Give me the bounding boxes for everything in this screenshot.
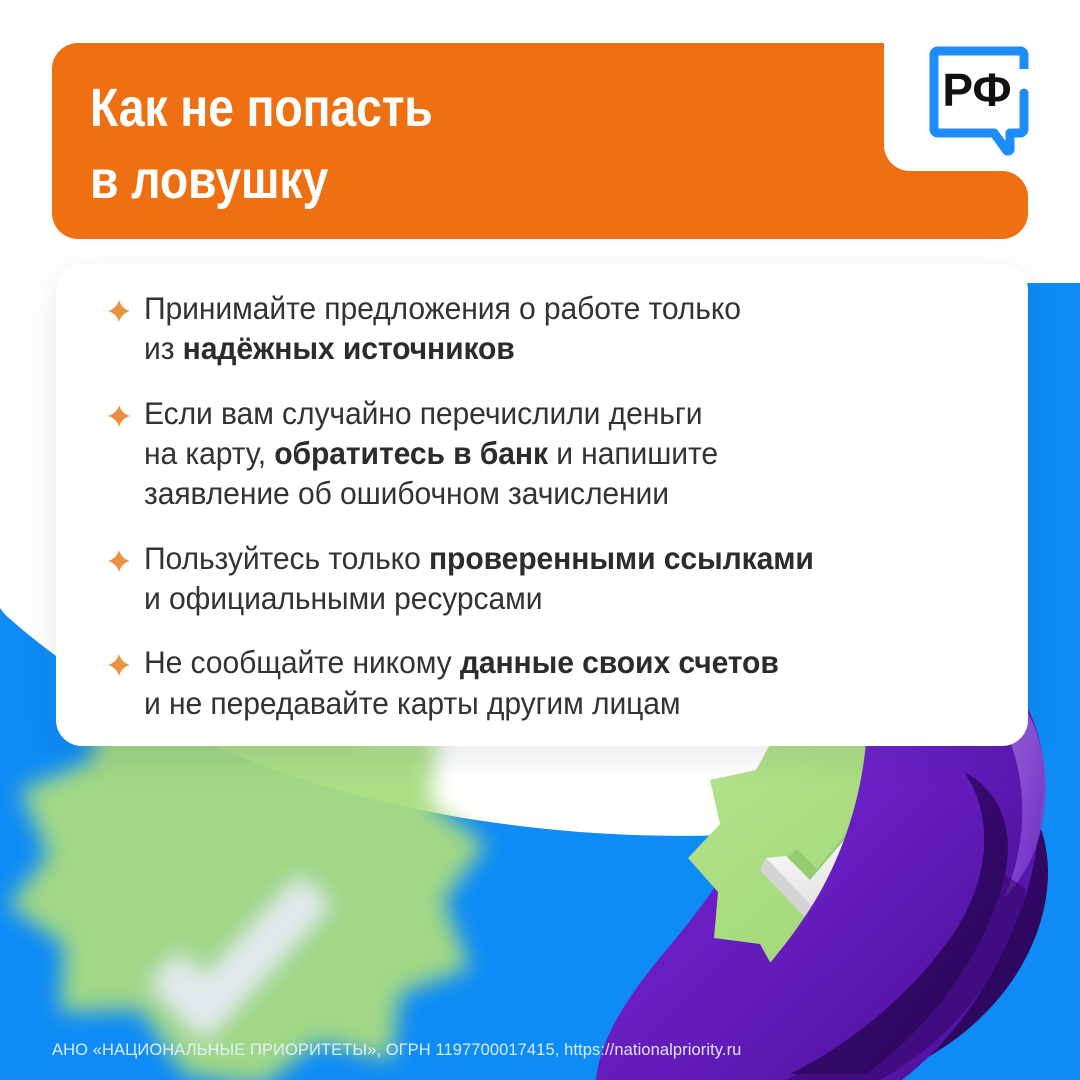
page-title: Как не попасть в ловушку <box>90 73 623 217</box>
list-item: Пользуйтесь только проверенными ссылками… <box>108 538 1008 619</box>
tips-list: Принимайте предложения о работе только и… <box>108 288 1008 723</box>
list-item-text: Не сообщайте никому данные своих счетов … <box>144 642 779 723</box>
list-item-text: Принимайте предложения о работе только и… <box>144 288 741 369</box>
tips-card: Принимайте предложения о работе только и… <box>56 264 1028 746</box>
list-item: Принимайте предложения о работе только и… <box>108 288 1008 369</box>
header-banner: Как не попасть в ловушку <box>52 43 1028 239</box>
list-item: Не сообщайте никому данные своих счетов … <box>108 642 1008 723</box>
rf-logo-svg: РФ <box>916 33 1038 170</box>
diamond-bullet-icon <box>108 405 130 427</box>
footer-legal-text: АНО «НАЦИОНАЛЬНЫЕ ПРИОРИТЕТЫ», ОГРН 1197… <box>52 1040 741 1060</box>
infographic-canvas: Как не попасть в ловушку РФ <box>0 0 1080 1080</box>
rf-logo: РФ <box>916 33 1038 170</box>
list-item: Если вам случайно перечислили деньги на … <box>108 393 1008 514</box>
list-item-text: Пользуйтесь только проверенными ссылками… <box>144 538 814 619</box>
diamond-bullet-icon <box>108 654 130 676</box>
diamond-bullet-icon <box>108 300 130 322</box>
rf-logo-text: РФ <box>942 64 1011 116</box>
diamond-bullet-icon <box>108 550 130 572</box>
list-item-text: Если вам случайно перечислили деньги на … <box>144 393 718 514</box>
